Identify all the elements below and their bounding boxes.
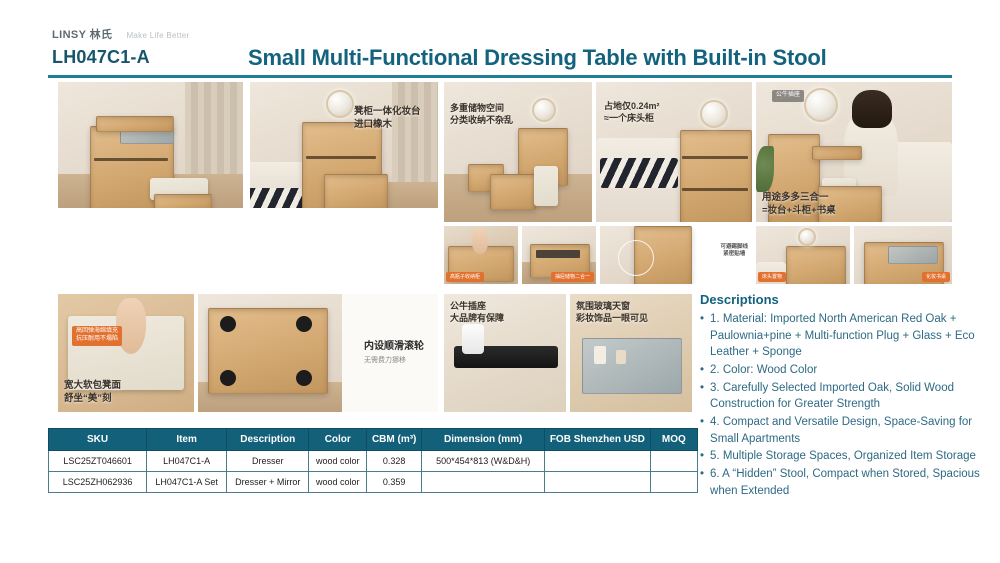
photo-caption: 占地仅0.24m² ≈一个床头柜 (604, 100, 660, 124)
description-item: • 1. Material: Imported North American R… (700, 311, 992, 361)
table-row: LSC25ZT046601 LH047C1-A Dresser wood col… (49, 451, 698, 472)
cosmetic-item (594, 346, 606, 364)
description-item: • 2. Color: Wood Color (700, 362, 992, 379)
cell-cbm: 0.359 (367, 472, 422, 493)
th-fob: FOB Shenzhen USD (545, 429, 651, 451)
photo-drawer-detail-hand: 高瓶子收纳柜 (444, 226, 518, 284)
bullet-icon: • (700, 311, 704, 361)
description-item: • 3. Carefully Selected Imported Oak, So… (700, 380, 992, 413)
cell-item: LH047C1-A (147, 451, 227, 472)
drawer-gap (94, 158, 168, 161)
descriptions-title: Descriptions (700, 292, 992, 307)
photo-caption: 多重储物空间 分类收纳不杂乱 (450, 102, 513, 126)
cell-dimension: 500*454*813 (W&D&H) (422, 451, 545, 472)
photo-glass-window-top: 氛围玻璃天窗 彩妆饰品一眼可见 (570, 294, 692, 412)
photo-woman-at-dressing-table: 公牛插座 用途多多三合一 =妆台+斗柜+书桌 (756, 82, 952, 222)
th-color: Color (309, 429, 367, 451)
th-item: Item (147, 429, 227, 451)
photo-dresser-beside-bed: 凳柜一体化妆台 进口橡木 (250, 82, 438, 208)
drawer-gap (306, 156, 376, 159)
description-text: 4. Compact and Versatile Design, Space-S… (710, 414, 992, 447)
page-title: Small Multi-Functional Dressing Table wi… (248, 45, 948, 71)
bullet-icon: • (700, 414, 704, 447)
dresser-upper-shelf (96, 116, 174, 132)
bullet-icon: • (700, 466, 704, 499)
stool-cushion-detached (534, 166, 558, 206)
sub-badge: 化妆书桌 (922, 272, 950, 283)
desk-glass-top (888, 246, 938, 264)
sub-badge: 高瓶子收纳柜 (446, 272, 484, 283)
humidifier (462, 324, 484, 354)
description-item: • 5. Multiple Storage Spaces, Organized … (700, 448, 992, 465)
blanket (600, 158, 678, 188)
cell-moq (650, 472, 697, 493)
plant (756, 146, 774, 192)
cell-color: wood color (309, 451, 367, 472)
sub-caption: 可避踢脚线 紧密贴墙 (720, 244, 748, 259)
bullet-icon: • (700, 380, 704, 413)
photo-caption: 内设顺滑滚轮 (364, 340, 424, 354)
caster-photo-area (198, 294, 342, 412)
description-item: • 4. Compact and Versatile Design, Space… (700, 414, 992, 447)
lighted-mirror (804, 88, 838, 122)
highlight-circle (618, 240, 654, 276)
cell-fob (545, 451, 651, 472)
caster-wheel (296, 316, 312, 332)
cell-moq (650, 451, 697, 472)
description-item: • 6. A “Hidden” Stool, Compact when Stor… (700, 466, 992, 499)
dresser-body (680, 130, 752, 222)
header-divider (48, 75, 952, 78)
logo-tagline: Make Life Better (126, 31, 189, 40)
photo-subcaption: 无需费力挪移 (364, 356, 406, 365)
cell-cbm: 0.328 (367, 451, 422, 472)
photo-open-drawers: 多重储物空间 分类收纳不杂乱 (444, 82, 592, 222)
drawer-gap-1 (682, 156, 748, 159)
drawer-gap-2 (682, 188, 748, 191)
photo-caption: 用途多多三合一 =妆台+斗柜+书桌 (762, 192, 836, 218)
caster-wheel (296, 370, 312, 386)
photo-soft-cushion: 高回弹海绵填充 抗压耐用不塌陷 宽大软包凳面 舒坐“美”刻 (58, 294, 194, 412)
th-cbm: CBM (m³) (367, 429, 422, 451)
photo-multi-function-plug: 公牛插座 大品牌有保障 (444, 294, 566, 412)
stool-body (154, 194, 212, 208)
round-mirror (326, 90, 354, 118)
cell-sku: LSC25ZT046601 (49, 451, 147, 472)
linsy-logo: LINSY 林氏 (52, 26, 112, 42)
table-row: LSC25ZH062936 LH047C1-A Set Dresser + Mi… (49, 472, 698, 493)
photo-stool-casters: 内设顺滑滚轮 无需费力挪移 (198, 294, 438, 412)
photo-bedside-storage: 床头置物 (756, 226, 850, 284)
plug-badge: 公牛插座 (772, 90, 804, 102)
blanket (250, 188, 310, 208)
cell-description: Dresser + Mirror (227, 472, 309, 493)
th-moq: MOQ (650, 429, 697, 451)
th-sku: SKU (49, 429, 147, 451)
cell-fob (545, 472, 651, 493)
cell-description: Dresser (227, 451, 309, 472)
photo-caption: 公牛插座 大品牌有保障 (450, 300, 504, 324)
book-row (536, 250, 580, 258)
description-text: 2. Color: Wood Color (710, 362, 992, 379)
cell-dimension (422, 472, 545, 493)
logo-row: LINSY 林氏 Make Life Better (52, 26, 242, 42)
bullet-icon: • (700, 448, 704, 465)
hand (472, 228, 488, 254)
photo-dresser-with-stool (58, 82, 243, 208)
page-header: LINSY 林氏 Make Life Better LH047C1-A Smal… (0, 0, 1000, 78)
spec-table: SKU Item Description Color CBM (m³) Dime… (48, 428, 698, 493)
sub-badge: 抽屉储物二合一 (551, 272, 594, 283)
dresser-body (786, 246, 846, 284)
cell-item: LH047C1-A Set (147, 472, 227, 493)
cell-sku: LSC25ZH062936 (49, 472, 147, 493)
photo-skirting-board-fit: 可避踢脚线 紧密贴墙 (600, 226, 752, 284)
round-mirror (532, 98, 556, 122)
caster-wheel (220, 316, 236, 332)
lighted-mirror (700, 100, 728, 128)
description-text: 6. A “Hidden” Stool, Compact when Stored… (710, 466, 992, 499)
model-code: LH047C1-A (52, 47, 242, 68)
photo-footprint-by-bed: 占地仅0.24m² ≈一个床头柜 (596, 82, 752, 222)
lower-drawer (324, 174, 388, 208)
descriptions-panel: Descriptions • 1. Material: Imported Nor… (700, 292, 992, 500)
description-text: 1. Material: Imported North American Red… (710, 311, 992, 361)
pulled-desk-top (812, 146, 862, 160)
bullet-icon: • (700, 362, 704, 379)
th-dimension: Dimension (mm) (422, 429, 545, 451)
sponge-badge: 高回弹海绵填充 抗压耐用不塌陷 (72, 326, 122, 346)
pulled-drawer-2 (490, 174, 536, 210)
brand-block: LINSY 林氏 Make Life Better LH047C1-A (52, 26, 242, 68)
photo-caption: 宽大软包凳面 舒坐“美”刻 (64, 380, 121, 406)
round-mirror (798, 228, 816, 246)
photo-caption: 氛围玻璃天窗 彩妆饰品一眼可见 (576, 300, 648, 324)
photo-caption: 凳柜一体化妆台 进口橡木 (354, 106, 421, 132)
table-header-row: SKU Item Description Color CBM (m³) Dime… (49, 429, 698, 451)
caster-wheel (220, 370, 236, 386)
person-hair (852, 90, 892, 128)
description-text: 3. Carefully Selected Imported Oak, Soli… (710, 380, 992, 413)
cosmetic-item (616, 350, 626, 364)
description-text: 5. Multiple Storage Spaces, Organized It… (710, 448, 992, 465)
photo-deep-drawer-books: 抽屉储物二合一 (522, 226, 596, 284)
photo-desk-use: 化妆书桌 (854, 226, 952, 284)
sub-badge: 床头置物 (758, 272, 786, 283)
th-description: Description (227, 429, 309, 451)
cell-color: wood color (309, 472, 367, 493)
